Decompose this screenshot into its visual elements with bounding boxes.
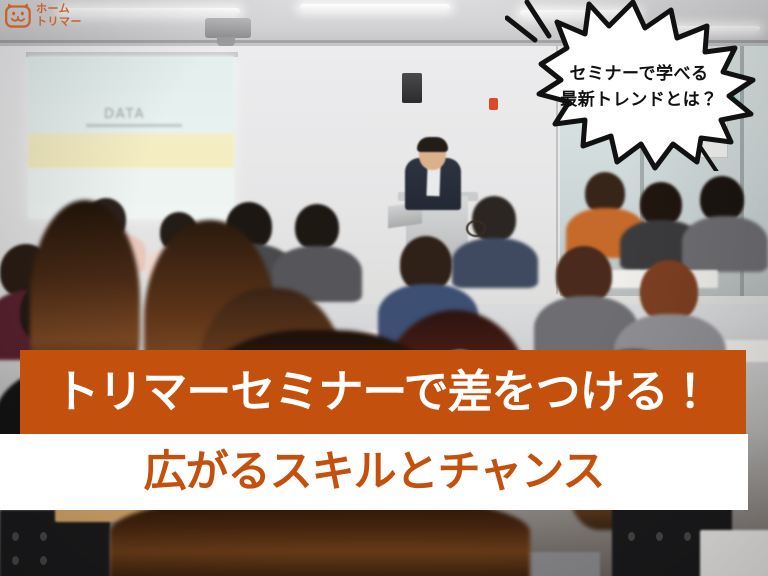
chair-hole (628, 532, 635, 541)
audience-head (640, 260, 698, 322)
brand-logo-text: ホーム トリマー (36, 3, 82, 28)
chair-hole (12, 532, 19, 541)
chair-hole (40, 532, 47, 541)
brand-line-1: ホーム (36, 3, 82, 16)
brand-line-2: トリマー (36, 16, 82, 29)
fire-alarm (489, 98, 498, 110)
projection-screen-label: DATA (104, 107, 146, 122)
cat-face-icon (4, 2, 32, 29)
ceiling-light (60, 8, 240, 14)
title-primary-band: トリマーセミナーで差をつける！ (20, 350, 746, 434)
audience-head (295, 204, 339, 250)
presenter-hair (417, 137, 448, 152)
title-secondary-text: 広がるスキルとチャンス (144, 449, 605, 495)
audience-shoulders (452, 238, 538, 288)
chair-hole (656, 532, 663, 541)
chair-hole (12, 556, 19, 565)
glasses-icon (466, 220, 486, 237)
title-primary-text: トリマーセミナーで差をつける！ (54, 368, 711, 416)
callout-bubble: セミナーで学べる 最新トレンドとは？ (505, 0, 768, 171)
projector (205, 18, 251, 38)
wall-speaker (402, 73, 422, 103)
audience-shoulders (682, 216, 768, 272)
brand-logo[interactable]: ホーム トリマー (4, 2, 82, 29)
title-secondary-band: 広がるスキルとチャンス (0, 434, 748, 510)
chair-hole (684, 532, 691, 541)
desk (700, 530, 768, 576)
starburst-speech-bubble-icon (505, 0, 768, 171)
projection-screen-subtitle (86, 124, 182, 127)
chair-hole (40, 556, 47, 565)
thumbnail-canvas: DATA (0, 0, 768, 576)
ceiling-light (300, 4, 450, 10)
